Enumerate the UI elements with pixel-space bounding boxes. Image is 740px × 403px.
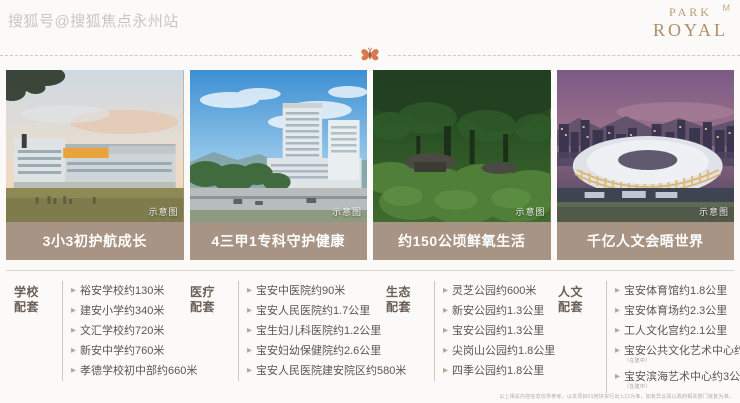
sohu-watermark: 搜狐号@搜狐焦点永州站 <box>8 10 179 31</box>
brand-monogram-icon: M <box>723 4 731 13</box>
bullet-icon: ▸ <box>615 344 620 358</box>
bullet-icon: ▸ <box>615 304 620 318</box>
facts-list: ▸裕安学校约130米 ▸建安小学约340米 ▸文汇学校约720米 ▸新安中学约7… <box>62 281 197 381</box>
list-item: ▸文汇学校约720米 <box>71 321 197 341</box>
list-item-text: 新安中学约760米 <box>80 345 164 357</box>
list-item: ▸宝安人民医院约1.7公里 <box>247 301 406 321</box>
list-item-text: 宝安公共文化艺术中心约2.1公里 <box>624 345 740 357</box>
bullet-icon: ▸ <box>443 324 448 338</box>
list-item-text: 宝生妇儿科医院约1.2公里 <box>256 325 381 337</box>
list-item-text: 孝德学校初中部约660米 <box>80 365 197 377</box>
list-item-text: 宝安中医院约90米 <box>256 285 345 297</box>
hospital-building-photo: 示意图 <box>190 70 368 222</box>
bullet-icon: ▸ <box>247 304 252 318</box>
facts-label-line1: 学校 <box>14 285 58 300</box>
bullet-icon: ▸ <box>615 370 620 384</box>
page-header: 搜狐号@搜狐焦点永州站 M PARK ROYAL <box>0 0 740 45</box>
facts-label-line1: 人文 <box>558 285 602 300</box>
list-item: ▸宝安中医院约90米 <box>247 281 406 301</box>
photo-tag-label: 示意图 <box>515 205 545 218</box>
brand-line-park: PARK <box>653 6 728 18</box>
amenity-card-row: 示意图 3小3初护航成长 <box>6 70 734 260</box>
promo-page: 搜狐号@搜狐焦点永州站 M PARK ROYAL <box>0 0 740 403</box>
stadium-night-photo: 示意图 <box>557 70 735 222</box>
list-item: ▸建安小学约340米 <box>71 301 197 321</box>
facts-list: ▸宝安中医院约90米 ▸宝安人民医院约1.7公里 ▸宝生妇儿科医院约1.2公里 … <box>238 281 406 381</box>
list-item: ▸宝安人民医院建安院区约580米 <box>247 361 406 381</box>
list-item-text: 文汇学校约720米 <box>80 325 164 337</box>
facts-column-label: 学校 配套 <box>6 281 58 315</box>
list-item-subnote: （在建中） <box>624 358 740 364</box>
facts-column-culture: 人文 配套 ▸宝安体育馆约1.8公里 ▸宝安体育场约2.3公里 ▸工人文化宫约2… <box>550 272 734 390</box>
bullet-icon: ▸ <box>443 344 448 358</box>
list-item: ▸宝生妇儿科医院约1.2公里 <box>247 321 406 341</box>
facts-column-label: 人文 配套 <box>550 281 602 315</box>
section-divider <box>0 46 740 64</box>
bullet-icon: ▸ <box>247 344 252 358</box>
bullet-icon: ▸ <box>71 284 76 298</box>
list-item: ▸新安中学约760米 <box>71 341 197 361</box>
bullet-icon: ▸ <box>71 364 76 378</box>
card-caption-text: 约150公顷鲜氧生活 <box>373 222 551 260</box>
bullet-icon: ▸ <box>247 284 252 298</box>
list-item-text: 灵芝公园约600米 <box>452 285 536 297</box>
amenity-card-culture[interactable]: 示意图 千亿人文会晤世界 <box>557 70 735 260</box>
list-item-subnote: （在建中） <box>624 384 740 390</box>
list-item: ▸宝安体育馆约1.8公里 <box>615 281 740 301</box>
facts-top-rule <box>6 270 734 271</box>
list-item: ▸裕安学校约130米 <box>71 281 197 301</box>
facts-label-line2: 配套 <box>14 300 58 315</box>
bullet-icon: ▸ <box>247 364 252 378</box>
brand-line-royal: ROYAL <box>653 21 728 39</box>
list-item-text: 宝安滨海艺术中心约3公里 <box>624 371 740 383</box>
list-item: ▸宝安公共文化艺术中心约2.1公里（在建中） <box>615 341 740 367</box>
list-item: ▸宝安体育场约2.3公里 <box>615 301 740 321</box>
divider-dash-right <box>388 55 740 56</box>
list-item-text: 宝安妇幼保健院约2.6公里 <box>256 345 381 357</box>
list-item-text: 宝安体育馆约1.8公里 <box>624 285 727 297</box>
bullet-icon: ▸ <box>615 284 620 298</box>
list-item-text: 建安小学约340米 <box>80 305 164 317</box>
list-item-text: 四季公园约1.8公里 <box>452 365 544 377</box>
list-item-text: 裕安学校约130米 <box>80 285 164 297</box>
photo-tag-label: 示意图 <box>699 205 729 218</box>
facts-label-line2: 配套 <box>558 300 602 315</box>
list-item: ▸四季公园约1.8公里 <box>443 361 555 381</box>
list-item: ▸宝安公园约1.3公里 <box>443 321 555 341</box>
amenity-card-medical[interactable]: 示意图 4三甲1专科守护健康 <box>190 70 368 260</box>
card-caption-text: 千亿人文会晤世界 <box>557 222 735 260</box>
bullet-icon: ▸ <box>71 304 76 318</box>
bullet-icon: ▸ <box>443 364 448 378</box>
bullet-icon: ▸ <box>71 344 76 358</box>
facts-list: ▸宝安体育馆约1.8公里 ▸宝安体育场约2.3公里 ▸工人文化宫约2.1公里 ▸… <box>606 281 740 393</box>
amenity-card-ecology[interactable]: 示意图 约150公顷鲜氧生活 <box>373 70 551 260</box>
divider-dash-left <box>0 55 352 56</box>
facts-table: 学校 配套 ▸裕安学校约130米 ▸建安小学约340米 ▸文汇学校约720米 ▸… <box>6 272 734 390</box>
list-item-text: 新安公园约1.3公里 <box>452 305 544 317</box>
list-item: ▸新安公园约1.3公里 <box>443 301 555 321</box>
list-item-text: 工人文化宫约2.1公里 <box>624 325 727 337</box>
school-campus-photo: 示意图 <box>6 70 184 222</box>
list-item-text: 宝安人民医院建安院区约580米 <box>256 365 406 377</box>
list-item-text: 宝安公园约1.3公里 <box>452 325 544 337</box>
bullet-icon: ▸ <box>443 284 448 298</box>
bullet-icon: ▸ <box>443 304 448 318</box>
card-caption-text: 4三甲1专科守护健康 <box>190 222 368 260</box>
amenity-card-school[interactable]: 示意图 3小3初护航成长 <box>6 70 184 260</box>
list-item-text: 宝安人民医院约1.7公里 <box>256 305 370 317</box>
bullet-icon: ▸ <box>71 324 76 338</box>
brand-logo: M PARK ROYAL <box>653 6 728 39</box>
list-item: ▸孝德学校初中部约660米 <box>71 361 197 381</box>
list-item-text: 宝安体育场约2.3公里 <box>624 305 727 317</box>
green-park-photo: 示意图 <box>373 70 551 222</box>
photo-tag-label: 示意图 <box>148 205 178 218</box>
facts-list: ▸灵芝公园约600米 ▸新安公园约1.3公里 ▸宝安公园约1.3公里 ▸尖岗山公… <box>434 281 555 381</box>
facts-column-school: 学校 配套 ▸裕安学校约130米 ▸建安小学约340米 ▸文汇学校约720米 ▸… <box>6 272 182 390</box>
facts-column-medical: 医疗 配套 ▸宝安中医院约90米 ▸宝安人民医院约1.7公里 ▸宝生妇儿科医院约… <box>182 272 378 390</box>
list-item-text: 尖岗山公园约1.8公里 <box>452 345 555 357</box>
list-item: ▸工人文化宫约2.1公里 <box>615 321 740 341</box>
list-item: ▸宝安滨海艺术中心约3公里（在建中） <box>615 367 740 393</box>
list-item: ▸宝安妇幼保健院约2.6公里 <box>247 341 406 361</box>
card-caption-text: 3小3初护航成长 <box>6 222 184 260</box>
bullet-icon: ▸ <box>615 324 620 338</box>
list-item: ▸灵芝公园约600米 <box>443 281 555 301</box>
photo-tag-label: 示意图 <box>332 205 362 218</box>
bullet-icon: ▸ <box>247 324 252 338</box>
list-item: ▸尖岗山公园约1.8公里 <box>443 341 555 361</box>
footer-disclaimer: 以上相关内容信息仅供参考，以本项目01地块实行出入口为准，如有异议请以政府相关部… <box>499 393 734 400</box>
butterfly-icon <box>360 47 380 63</box>
